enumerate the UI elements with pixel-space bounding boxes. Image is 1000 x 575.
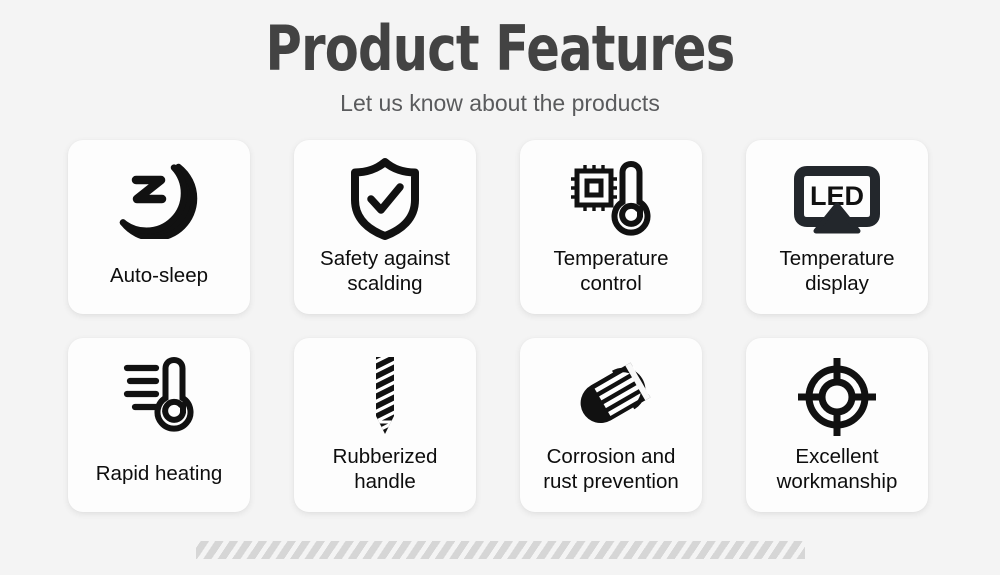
feature-card-corrosion-rust-prevention[interactable]: Corrosion and rust prevention (520, 338, 702, 512)
feature-card-temperature-display[interactable]: LED Temperature display (746, 140, 928, 314)
rubber-handle-icon (294, 354, 476, 440)
feature-card-label: Auto-sleep (68, 242, 250, 314)
feature-card-auto-sleep[interactable]: Auto-sleep (68, 140, 250, 314)
feature-card-label: Safety against scalding (294, 242, 476, 314)
feature-card-label: Rubberized handle (294, 440, 476, 512)
feature-card-temperature-control[interactable]: Temperature control (520, 140, 702, 314)
led-display-icon: LED (746, 156, 928, 242)
feature-card-label: Temperature control (520, 242, 702, 314)
feature-grid: Auto-sleep Safety against scalding (68, 140, 934, 512)
page-subtitle: Let us know about the products (0, 83, 1000, 117)
striped-rod-icon (520, 354, 702, 440)
feature-card-safety-against-scalding[interactable]: Safety against scalding (294, 140, 476, 314)
feature-card-rapid-heating[interactable]: Rapid heating (68, 338, 250, 512)
feature-card-label: Rapid heating (68, 440, 250, 512)
crosshair-target-icon (746, 354, 928, 440)
product-features-page: Product Features Let us know about the p… (0, 0, 1000, 575)
footer-hatch-decoration (196, 541, 805, 559)
shield-check-icon (294, 156, 476, 242)
feature-card-label: Temperature display (746, 242, 928, 314)
feature-card-label: Corrosion and rust prevention (520, 440, 702, 512)
page-header: Product Features Let us know about the p… (0, 0, 1000, 117)
feature-card-excellent-workmanship[interactable]: Excellent workmanship (746, 338, 928, 512)
feature-card-label: Excellent workmanship (746, 440, 928, 512)
chip-thermometer-icon (520, 156, 702, 242)
thermometer-speed-icon (68, 354, 250, 440)
page-title: Product Features (100, 0, 900, 83)
feature-card-rubberized-handle[interactable]: Rubberized handle (294, 338, 476, 512)
moon-sleep-icon (68, 156, 250, 242)
